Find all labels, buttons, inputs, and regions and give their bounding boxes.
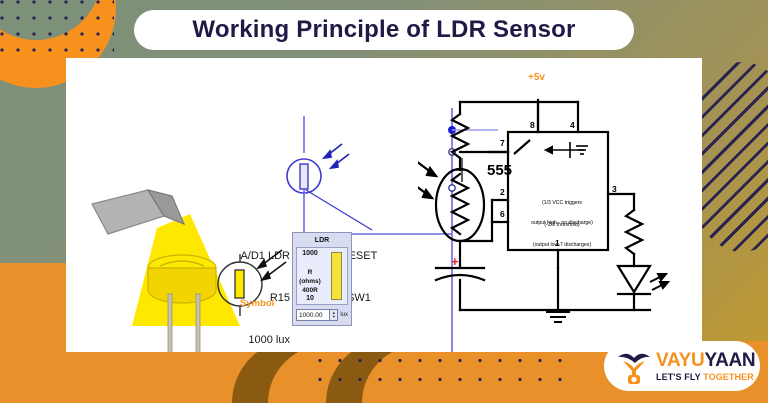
decoration-dot-grid-bottom xyxy=(310,351,570,395)
ground-symbol xyxy=(546,312,570,322)
pin6-note-line2: (output low-7 discharges) xyxy=(510,242,614,249)
schematic-ldr-element xyxy=(300,164,308,189)
schematic-component-label: A/D1 LDR R15 1000 lux xyxy=(206,221,290,352)
capacitor-polarity-plus: + xyxy=(451,254,459,269)
led-triangle xyxy=(618,266,650,292)
brand-name-part2: YAAN xyxy=(704,350,755,371)
brand-logo[interactable]: VAYUYAAN LET'S FLY TOGETHER xyxy=(604,341,760,391)
brand-tagline: LET'S FLY TOGETHER xyxy=(656,373,755,382)
pin-label-4: 4 xyxy=(570,120,575,130)
page-title: Working Principle of LDR Sensor xyxy=(192,16,575,44)
brand-name: VAYUYAAN xyxy=(656,351,755,370)
pin-label-6: 6 xyxy=(500,209,505,219)
decoration-arc-top-left-inner xyxy=(0,0,102,40)
circuit-light-arrows xyxy=(418,158,436,198)
meter-resistance-value: 400R xyxy=(297,286,323,295)
brand-wordmark: VAYUYAAN LET'S FLY TOGETHER xyxy=(656,351,755,382)
meter-bar-frame xyxy=(331,252,342,300)
diagram-canvas: LDR Light Dependent Resistor Symbol xyxy=(66,58,702,352)
led-emission-arrows xyxy=(650,274,668,290)
vayuyaan-bird-icon xyxy=(614,346,654,386)
resistor-r2 xyxy=(626,210,642,254)
meter-resistance-unit: R (ohms) xyxy=(297,268,323,286)
meter-bar-fill xyxy=(332,253,341,299)
decoration-ring-bottom-2 xyxy=(268,345,384,403)
ldr-meter-panel[interactable]: LDR 1000 R (ohms) 400R 10 1000.00 ▲ ▼ lu… xyxy=(292,232,352,326)
meter-min-value: 10 xyxy=(297,295,323,302)
pin6-note: (-2/3 threshold) (output low-7 discharge… xyxy=(510,209,614,261)
meter-gauge-body: 1000 R (ohms) 400R 10 xyxy=(296,247,348,305)
meter-resistance-label: R (ohms) 400R xyxy=(297,268,323,295)
spinner-down-icon[interactable]: ▼ xyxy=(332,315,336,319)
component-label-line3: 1000 lux xyxy=(206,333,290,347)
decoration-ring-bottom-4 xyxy=(362,345,478,403)
decoration-dot-grid-top-left xyxy=(0,0,114,56)
discharge-switch xyxy=(514,140,588,158)
ic-label-555: 555 xyxy=(487,162,512,179)
brand-tagline-part1: LET'S FLY xyxy=(656,372,703,382)
pin2-note-line1: (1/3 VCC triggers xyxy=(510,200,614,207)
pin-label-8: 8 xyxy=(530,120,535,130)
meter-spinner[interactable]: ▲ ▼ xyxy=(330,309,338,321)
decoration-band-left xyxy=(0,263,66,403)
brand-name-part1: VAYU xyxy=(656,350,704,371)
pin-label-2: 2 xyxy=(500,187,505,197)
component-label-line1: A/D1 LDR xyxy=(206,249,290,263)
brand-tagline-part2: TOGETHER xyxy=(703,372,754,382)
meter-max-value: 1000 xyxy=(297,250,323,257)
pin6-note-line1: (-2/3 threshold) xyxy=(510,222,614,229)
meter-unit-label: lux xyxy=(340,312,348,318)
supply-voltage-label: +5v xyxy=(528,72,545,83)
component-label-line2: R15 xyxy=(206,291,290,305)
meter-input-row[interactable]: 1000.00 ▲ ▼ lux xyxy=(296,309,348,321)
poster-root: Working Principle of LDR Sensor xyxy=(0,0,768,403)
meter-title: LDR xyxy=(293,233,351,247)
meter-value-input[interactable]: 1000.00 xyxy=(296,309,330,321)
ldr-resistor-element xyxy=(452,174,468,234)
pin-label-7: 7 xyxy=(500,138,505,148)
ldr-envelope xyxy=(436,169,484,241)
schematic-light-arrows xyxy=(324,144,349,168)
title-banner: Working Principle of LDR Sensor xyxy=(134,10,634,50)
